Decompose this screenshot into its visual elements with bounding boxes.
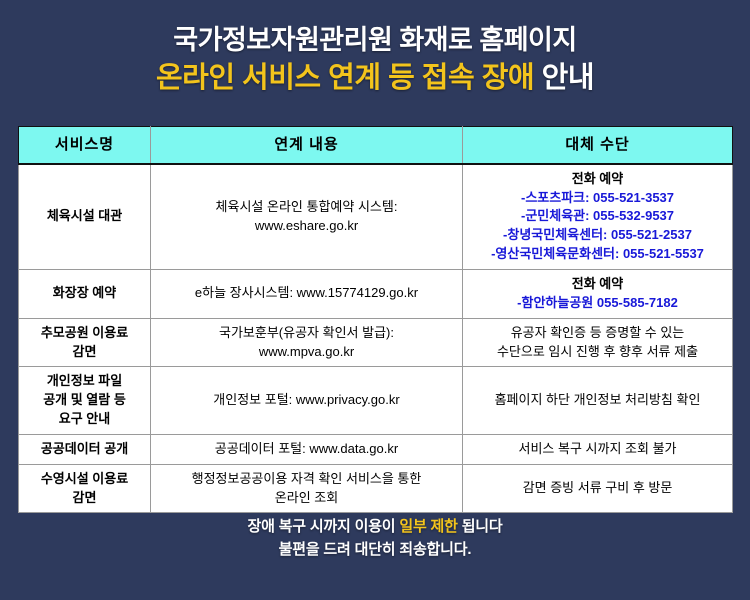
service-name-line: 공개 및 열람 등 bbox=[23, 391, 146, 410]
link-content-cell: 국가보훈부(유공자 확인서 발급):www.mpva.go.kr bbox=[151, 318, 463, 367]
title-line-2: 온라인 서비스 연계 등 접속 장애 안내 bbox=[0, 60, 750, 96]
table-row: 공공데이터 공개공공데이터 포털: www.data.go.kr서비스 복구 시… bbox=[19, 434, 733, 464]
service-name-line: 추모공원 이용료 bbox=[23, 324, 146, 343]
alternative-text-line: 수단으로 임시 진행 후 향후 서류 제출 bbox=[467, 343, 728, 362]
service-outage-table: 서비스명 연계 내용 대체 수단 체육시설 대관체육시설 온라인 통합예약 시스… bbox=[18, 126, 733, 513]
column-header-service: 서비스명 bbox=[19, 127, 151, 164]
phone-contact-line: -군민체육관: 055-532-9537 bbox=[467, 207, 728, 226]
alternative-means-cell: 홈페이지 하단 개인정보 처리방침 확인 bbox=[463, 367, 733, 435]
phone-contact-line: -스포츠파크: 055-521-3537 bbox=[467, 189, 728, 208]
service-name-cell: 개인정보 파일공개 및 열람 등요구 안내 bbox=[19, 367, 151, 435]
link-content-line: www.mpva.go.kr bbox=[155, 343, 458, 362]
link-content-line: www.eshare.go.kr bbox=[155, 217, 458, 236]
title-highlight: 온라인 서비스 연계 등 접속 장애 bbox=[156, 62, 534, 94]
link-content-line: 공공데이터 포털: www.data.go.kr bbox=[155, 440, 458, 459]
service-name-line: 화장장 예약 bbox=[23, 284, 146, 303]
service-name-line: 요구 안내 bbox=[23, 410, 146, 429]
phone-contact-line: -함안하늘공원 055-585-7182 bbox=[467, 294, 728, 313]
link-content-line: 개인정보 포털: www.privacy.go.kr bbox=[155, 391, 458, 410]
column-header-link: 연계 내용 bbox=[151, 127, 463, 164]
table-row: 화장장 예약e하늘 장사시스템: www.15774129.go.kr전화 예약… bbox=[19, 269, 733, 318]
alternative-means-cell: 전화 예약-함안하늘공원 055-585-7182 bbox=[463, 269, 733, 318]
footer-highlight: 일부 제한 bbox=[399, 518, 457, 535]
page-title: 국가정보자원관리원 화재로 홈페이지 온라인 서비스 연계 등 접속 장애 안내 bbox=[0, 0, 750, 96]
alternative-means-cell: 전화 예약-스포츠파크: 055-521-3537-군민체육관: 055-532… bbox=[463, 164, 733, 270]
service-table-container: 서비스명 연계 내용 대체 수단 체육시설 대관체육시설 온라인 통합예약 시스… bbox=[18, 126, 732, 513]
table-row: 개인정보 파일공개 및 열람 등요구 안내개인정보 포털: www.privac… bbox=[19, 367, 733, 435]
service-name-cell: 수영시설 이용료감면 bbox=[19, 464, 151, 513]
footer-text-post: 됩니다 bbox=[458, 518, 503, 535]
table-body: 체육시설 대관체육시설 온라인 통합예약 시스템:www.eshare.go.k… bbox=[19, 164, 733, 513]
link-content-cell: 행정정보공공이용 자격 확인 서비스을 통한온라인 조회 bbox=[151, 464, 463, 513]
footer-line-1: 장애 복구 시까지 이용이 일부 제한 됩니다 bbox=[0, 515, 750, 538]
table-row: 체육시설 대관체육시설 온라인 통합예약 시스템:www.eshare.go.k… bbox=[19, 164, 733, 270]
link-content-line: e하늘 장사시스템: www.15774129.go.kr bbox=[155, 284, 458, 303]
link-content-cell: 개인정보 포털: www.privacy.go.kr bbox=[151, 367, 463, 435]
alternative-heading: 전화 예약 bbox=[467, 170, 728, 189]
phone-contact-line: -창녕국민체육센터: 055-521-2537 bbox=[467, 226, 728, 245]
service-name-cell: 공공데이터 공개 bbox=[19, 434, 151, 464]
service-name-line: 체육시설 대관 bbox=[23, 207, 146, 226]
table-header-row: 서비스명 연계 내용 대체 수단 bbox=[19, 127, 733, 164]
alternative-heading: 전화 예약 bbox=[467, 275, 728, 294]
alternative-means-cell: 감면 증빙 서류 구비 후 방문 bbox=[463, 464, 733, 513]
footer-line-2: 불편을 드려 대단히 죄송합니다. bbox=[0, 538, 750, 561]
link-content-line: 국가보훈부(유공자 확인서 발급): bbox=[155, 324, 458, 343]
footer-notice: 장애 복구 시까지 이용이 일부 제한 됩니다 불편을 드려 대단히 죄송합니다… bbox=[0, 515, 750, 562]
table-row: 추모공원 이용료감면국가보훈부(유공자 확인서 발급):www.mpva.go.… bbox=[19, 318, 733, 367]
column-header-alternative: 대체 수단 bbox=[463, 127, 733, 164]
title-tail: 안내 bbox=[542, 62, 594, 94]
footer-text-pre: 장애 복구 시까지 이용이 bbox=[247, 518, 399, 535]
table-header: 서비스명 연계 내용 대체 수단 bbox=[19, 127, 733, 164]
alternative-text-line: 유공자 확인증 등 증명할 수 있는 bbox=[467, 324, 728, 343]
table-row: 수영시설 이용료감면행정정보공공이용 자격 확인 서비스을 통한온라인 조회감면… bbox=[19, 464, 733, 513]
alternative-text-line: 홈페이지 하단 개인정보 처리방침 확인 bbox=[467, 391, 728, 410]
link-content-cell: 공공데이터 포털: www.data.go.kr bbox=[151, 434, 463, 464]
link-content-cell: 체육시설 온라인 통합예약 시스템:www.eshare.go.kr bbox=[151, 164, 463, 270]
link-content-line: 체육시설 온라인 통합예약 시스템: bbox=[155, 198, 458, 217]
service-name-line: 감면 bbox=[23, 343, 146, 362]
alternative-means-cell: 서비스 복구 시까지 조회 불가 bbox=[463, 434, 733, 464]
service-name-line: 감면 bbox=[23, 489, 146, 508]
service-name-cell: 추모공원 이용료감면 bbox=[19, 318, 151, 367]
service-name-cell: 체육시설 대관 bbox=[19, 164, 151, 270]
link-content-line: 온라인 조회 bbox=[155, 489, 458, 508]
service-name-line: 공공데이터 공개 bbox=[23, 440, 146, 459]
title-line-1: 국가정보자원관리원 화재로 홈페이지 bbox=[0, 24, 750, 58]
alternative-text-line: 감면 증빙 서류 구비 후 방문 bbox=[467, 479, 728, 498]
phone-contact-line: -영산국민체육문화센터: 055-521-5537 bbox=[467, 245, 728, 264]
link-content-line: 행정정보공공이용 자격 확인 서비스을 통한 bbox=[155, 470, 458, 489]
link-content-cell: e하늘 장사시스템: www.15774129.go.kr bbox=[151, 269, 463, 318]
service-name-line: 개인정보 파일 bbox=[23, 372, 146, 391]
service-name-line: 수영시설 이용료 bbox=[23, 470, 146, 489]
service-name-cell: 화장장 예약 bbox=[19, 269, 151, 318]
alternative-means-cell: 유공자 확인증 등 증명할 수 있는수단으로 임시 진행 후 향후 서류 제출 bbox=[463, 318, 733, 367]
alternative-text-line: 서비스 복구 시까지 조회 불가 bbox=[467, 440, 728, 459]
